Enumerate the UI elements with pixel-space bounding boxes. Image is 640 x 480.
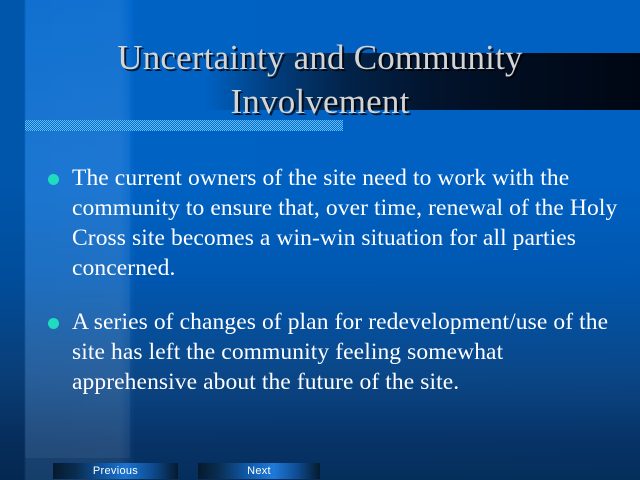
slide-body: The current owners of the site need to w… (44, 163, 632, 421)
bullet-dot-icon (48, 174, 59, 185)
next-button[interactable]: Next (198, 463, 320, 479)
list-item-text: The current owners of the site need to w… (72, 163, 632, 283)
bullet-dot-icon (48, 318, 59, 329)
previous-button[interactable]: Previous (53, 463, 178, 479)
title-underline-decoration (25, 120, 343, 131)
slide-title: Uncertainty and Community Involvement (40, 36, 600, 124)
slide-navigation-bar: Previous Next (0, 462, 640, 480)
list-item: The current owners of the site need to w… (44, 163, 632, 283)
presentation-slide: Uncertainty and Community Involvement Th… (0, 0, 640, 480)
list-item: A series of changes of plan for redevelo… (44, 307, 632, 397)
list-item-text: A series of changes of plan for redevelo… (72, 307, 632, 397)
